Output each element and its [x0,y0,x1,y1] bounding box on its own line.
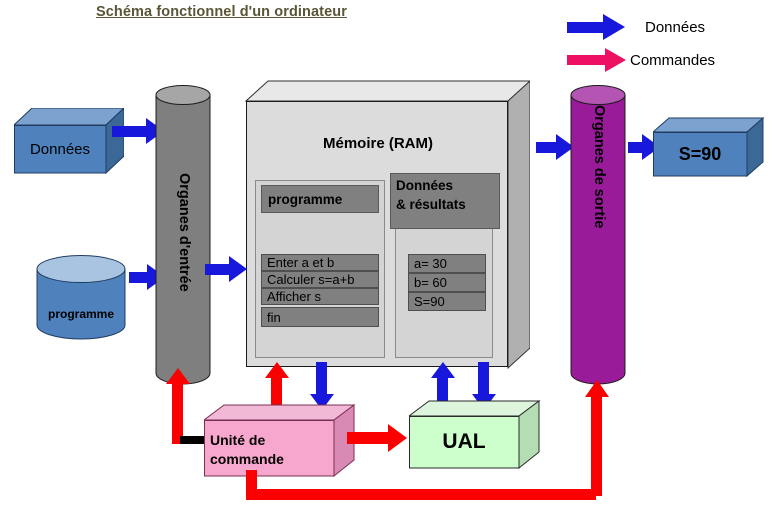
output-result-box-label: S=90 [653,132,747,176]
ram-instruction-2: Afficher s [261,288,379,305]
ram-data-panel-header: Données & résultats [390,173,500,229]
control-unit-label-line1: Unité de [210,431,265,450]
ram-instruction-1: Calculer s=a+b [261,271,379,288]
alu-label: UAL [409,416,519,468]
input-data-box: Données [14,108,124,174]
ram-data-panel-header-line2: & résultats [396,195,499,214]
output-result-box: S=90 [653,117,763,177]
control-unit-label: Unité de commande [210,424,334,476]
ram-data-panel-header-line1: Données [396,176,499,195]
ram-data-value-0: a= 30 [408,254,486,273]
ram-data-value-2: S=90 [408,292,486,311]
ram-data-value-1: b= 60 [408,273,486,292]
diagram-canvas: Schéma fonctionnel d'un ordinateur Donné… [0,0,779,512]
ram-program-panel-header: programme [261,185,379,213]
control-unit-label-line2: commande [210,450,284,469]
program-cylinder-shape [36,255,128,347]
page-title: Schéma fonctionnel d'un ordinateur [96,4,347,20]
program-cylinder-label: programme [36,307,126,321]
ram-instruction-3: fin [261,307,379,327]
input-organ-cylinder: Organes d'entrée [155,85,211,385]
ram-program-panel: programme Enter a et b Calculer s=a+b Af… [255,180,385,358]
output-organ-label: Organes de sortie [591,105,607,228]
input-data-box-label: Données [14,125,106,173]
ram-front-face: Mémoire (RAM) programme Enter a et b Cal… [246,101,508,367]
legend-label-commandes: Commandes [630,52,715,69]
legend-label-donnees: Données [645,19,705,36]
control-unit-box: Unité de commande [204,404,354,480]
ram-title: Mémoire (RAM) [247,135,509,152]
program-storage-cylinder: programme [36,255,126,345]
input-organ-label: Organes d'entrée [176,173,192,292]
alu-box: UAL [409,400,539,472]
ram-instruction-0: Enter a et b [261,254,379,271]
memory-ram-block: Mémoire (RAM) programme Enter a et b Cal… [240,80,530,378]
ram-data-panel: Données & résultats a= 30 b= 60 S=90 [395,180,493,358]
output-organ-cylinder: Organes de sortie [570,85,626,385]
